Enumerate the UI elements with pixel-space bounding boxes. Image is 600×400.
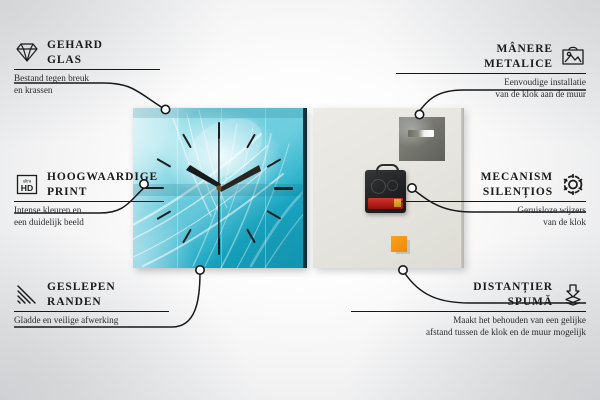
feature-heading: GESLEPEN RANDEN [14, 280, 189, 309]
feature-manere-metalice: MÂNERE METALICE Eenvoudige installatie v… [396, 42, 586, 100]
feature-heading: MÂNERE METALICE [396, 42, 586, 71]
diamond-icon [14, 41, 40, 64]
feature-title: GESLEPEN RANDEN [47, 280, 116, 309]
feature-heading: DISTANȚIER SPUMĂ [351, 280, 586, 309]
layers-down-arrow-icon [560, 283, 586, 306]
feature-divider [401, 201, 586, 202]
feature-heading: GEHARD GLAS [14, 38, 174, 67]
feature-title: HOOGWAARDIGE PRINT [47, 170, 158, 199]
feature-geslepen-randen: GESLEPEN RANDEN Gladde en veilige afwerk… [14, 280, 189, 327]
svg-text:HD: HD [21, 183, 33, 193]
feature-title: MECANISM SILENȚIOS [481, 170, 553, 199]
feature-heading: MECANISM SILENȚIOS [401, 170, 586, 199]
ultra-hd-icon: ultra HD [14, 173, 40, 196]
feature-heading: ultra HD HOOGWAARDIGE PRINT [14, 170, 189, 199]
feature-divider [14, 69, 160, 70]
feature-subtitle: Intense kleuren en een duidelijk beeld [14, 205, 189, 228]
infographic-canvas: GEHARD GLAS Bestand tegen breuk en krass… [0, 0, 600, 400]
feature-subtitle: Eenvoudige installatie van de klok aan d… [396, 77, 586, 100]
feature-divider [351, 311, 586, 312]
connector-dot-randen [196, 266, 204, 274]
feature-subtitle: Maakt het behouden van een gelijke afsta… [351, 315, 586, 338]
feature-hoogwaardige-print: ultra HD HOOGWAARDIGE PRINT Intense kleu… [14, 170, 189, 228]
feature-mecanism-silentios: MECANISM SILENȚIOS Geruisloze wijzers va… [401, 170, 586, 228]
feature-distantier-spuma: DISTANȚIER SPUMĂ Maakt het behouden van … [351, 280, 586, 338]
feature-title: GEHARD GLAS [47, 38, 103, 67]
feature-subtitle: Gladde en veilige afwerking [14, 315, 189, 327]
connector-dot-distantier [399, 266, 407, 274]
feature-subtitle: Bestand tegen breuk en krassen [14, 73, 174, 96]
gear-icon [560, 173, 586, 196]
feature-divider [14, 311, 169, 312]
feature-divider [396, 73, 586, 74]
feature-subtitle: Geruisloze wijzers van de klok [401, 205, 586, 228]
feature-title: MÂNERE METALICE [484, 42, 553, 71]
feature-title: DISTANȚIER SPUMĂ [473, 280, 553, 309]
feature-gehard-glas: GEHARD GLAS Bestand tegen breuk en krass… [14, 38, 174, 96]
bevelled-edge-icon [14, 283, 40, 306]
picture-frame-icon [560, 45, 586, 68]
feature-divider [14, 201, 164, 202]
connector-dot-manere [415, 110, 423, 118]
connector-dot-gehard-glas [161, 105, 169, 113]
